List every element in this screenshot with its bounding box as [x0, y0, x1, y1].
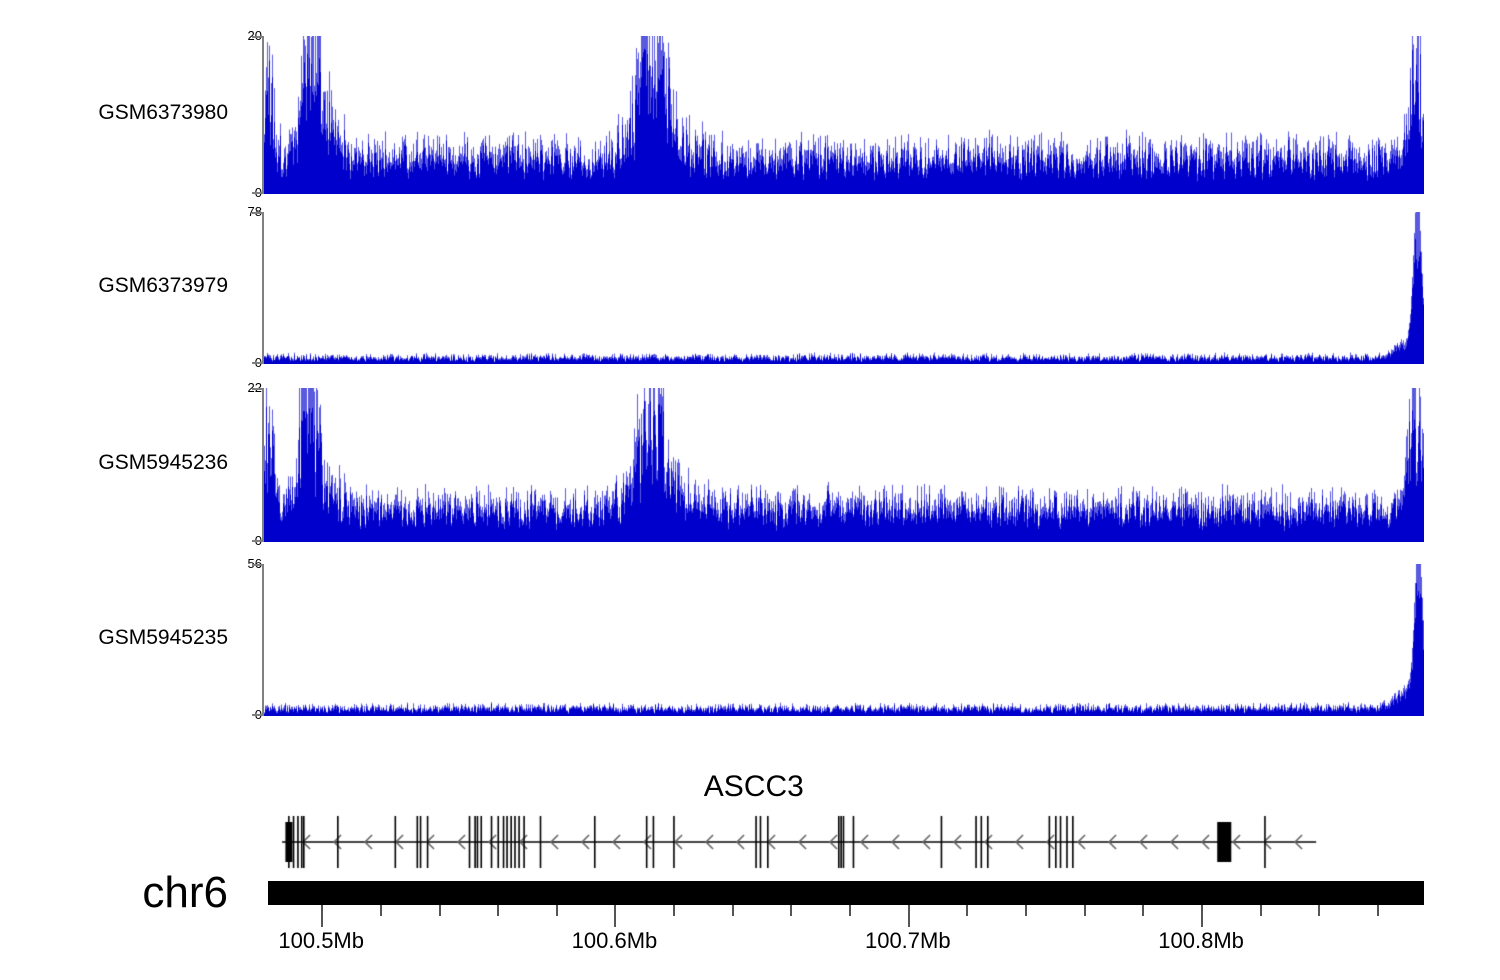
axis-tick	[252, 36, 263, 38]
track-label: GSM6373980	[0, 101, 228, 125]
coverage-plot[interactable]	[264, 564, 1424, 716]
ruler-minor-tick	[439, 905, 441, 916]
ruler-minor-tick	[380, 905, 382, 916]
coverage-track[interactable]: GSM6373979 78 0	[0, 212, 1500, 364]
ruler-minor-tick	[1084, 905, 1086, 916]
coverage-track[interactable]: GSM5945235 56 0	[0, 564, 1500, 716]
ruler-major-tick	[908, 905, 910, 927]
coordinate-ruler: 100.5Mb100.6Mb100.7Mb100.8Mb	[0, 905, 1500, 975]
ruler-minor-tick	[556, 905, 558, 916]
ruler-minor-tick	[1377, 905, 1379, 916]
axis-line	[262, 212, 264, 364]
track-label: GSM5945236	[0, 451, 228, 475]
coverage-signal	[264, 36, 1424, 194]
axis-tick	[252, 362, 263, 364]
axis-tick	[252, 388, 263, 390]
ruler-minor-tick	[1318, 905, 1320, 916]
coverage-signal	[264, 388, 1424, 542]
axis-tick	[252, 192, 263, 194]
coverage-plot[interactable]	[264, 36, 1424, 194]
track-axis: 22 0	[206, 388, 262, 542]
coverage-signal	[264, 212, 1424, 364]
ruler-label: 100.5Mb	[278, 928, 364, 954]
track-axis: 20 0	[206, 36, 262, 194]
axis-tick	[252, 714, 263, 716]
track-axis: 56 0	[206, 564, 262, 716]
ruler-minor-tick	[849, 905, 851, 916]
track-axis: 78 0	[206, 212, 262, 364]
track-label: GSM5945235	[0, 626, 228, 650]
track-label: GSM6373979	[0, 274, 228, 298]
coverage-signal	[264, 564, 1424, 716]
coverage-track[interactable]: GSM6373980 20 0	[0, 36, 1500, 194]
ruler-minor-tick	[497, 905, 499, 916]
gene-annotation-panel[interactable]: ASCC3	[0, 760, 1500, 880]
ruler-minor-tick	[673, 905, 675, 916]
ruler-label: 100.6Mb	[572, 928, 658, 954]
axis-line	[262, 36, 264, 194]
ruler-minor-tick	[1025, 905, 1027, 916]
ruler-label: 100.8Mb	[1158, 928, 1244, 954]
ruler-minor-tick	[790, 905, 792, 916]
ruler-major-tick	[1201, 905, 1203, 927]
chromosome-bar[interactable]	[268, 881, 1424, 905]
coverage-track[interactable]: GSM5945236 22 0	[0, 388, 1500, 542]
ruler-minor-tick	[1142, 905, 1144, 916]
axis-tick	[252, 212, 263, 214]
genome-browser-view: GSM6373980 20 0 GSM6373979 78 0 GSM59452…	[0, 0, 1500, 980]
ruler-minor-tick	[966, 905, 968, 916]
ruler-label: 100.7Mb	[865, 928, 951, 954]
coverage-plot[interactable]	[264, 388, 1424, 542]
ruler-minor-tick	[732, 905, 734, 916]
coverage-plot[interactable]	[264, 212, 1424, 364]
ruler-major-tick	[614, 905, 616, 927]
gene-model-canvas	[264, 800, 1424, 870]
axis-tick	[252, 564, 263, 566]
ruler-minor-tick	[1260, 905, 1262, 916]
gene-model[interactable]	[264, 800, 1424, 870]
axis-line	[262, 388, 264, 542]
ruler-major-tick	[321, 905, 323, 927]
gene-name-label: ASCC3	[704, 770, 804, 804]
axis-line	[262, 564, 264, 716]
axis-tick	[252, 540, 263, 542]
